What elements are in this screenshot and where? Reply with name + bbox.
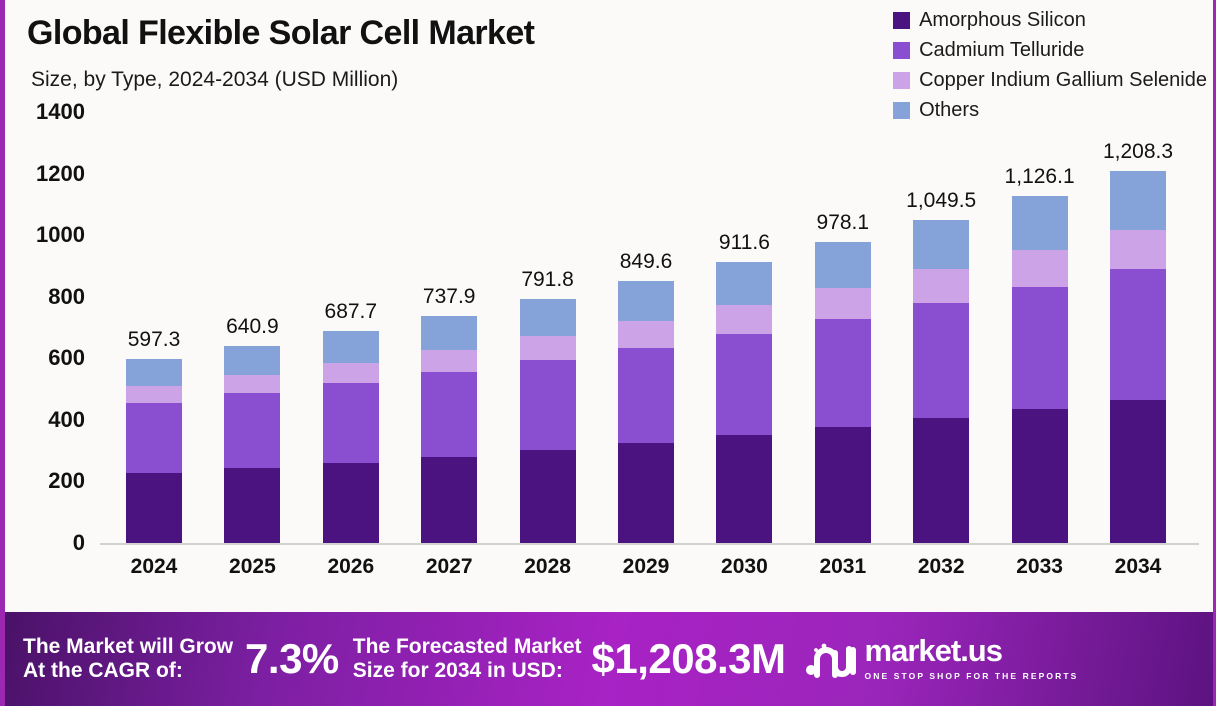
legend-label: Amorphous Silicon bbox=[919, 9, 1086, 32]
page-title: Global Flexible Solar Cell Market bbox=[27, 14, 534, 53]
x-axis-tick-label: 2026 bbox=[323, 555, 379, 579]
bar-segment[interactable] bbox=[224, 346, 280, 375]
bar-segment[interactable] bbox=[323, 363, 379, 383]
bar-column[interactable]: 978.1 bbox=[815, 242, 871, 543]
bar-value-label: 911.6 bbox=[719, 231, 770, 255]
y-axis-tick-label: 600 bbox=[48, 345, 85, 371]
bar-segment[interactable] bbox=[716, 435, 772, 543]
cagr-label: The Market will Grow At the CAGR of: bbox=[23, 635, 233, 684]
y-axis-tick-label: 200 bbox=[48, 468, 85, 494]
bar-segment[interactable] bbox=[520, 360, 576, 450]
chart-area: 0200400600800100012001400 597.3640.9687.… bbox=[5, 112, 1213, 612]
bar-segment[interactable] bbox=[1110, 400, 1166, 543]
bar-column[interactable]: 737.9 bbox=[421, 316, 477, 543]
bar-segment[interactable] bbox=[913, 269, 969, 303]
bar-column[interactable]: 791.8 bbox=[520, 299, 576, 543]
market-us-logo[interactable]: market.us ONE STOP SHOP FOR THE REPORTS bbox=[804, 635, 1213, 684]
bar-segment[interactable] bbox=[421, 457, 477, 544]
bar-segment[interactable] bbox=[421, 316, 477, 350]
bar-column[interactable]: 1,126.1 bbox=[1012, 196, 1068, 543]
y-axis-tick-label: 400 bbox=[48, 407, 85, 433]
bar-segment[interactable] bbox=[815, 427, 871, 543]
y-axis-tick-label: 1200 bbox=[36, 161, 85, 187]
x-axis: 2024202520262027202820292030203120322033… bbox=[100, 555, 1199, 595]
bar-value-label: 737.9 bbox=[423, 285, 476, 309]
logo-tagline: ONE STOP SHOP FOR THE REPORTS bbox=[865, 671, 1079, 681]
bar-segment[interactable] bbox=[126, 403, 182, 473]
bar-segment[interactable] bbox=[716, 334, 772, 436]
x-axis-tick-label: 2025 bbox=[224, 555, 280, 579]
x-axis-tick-label: 2031 bbox=[815, 555, 871, 579]
bar-value-label: 1,049.5 bbox=[906, 189, 976, 213]
bar-plot: 597.3640.9687.7737.9791.8849.6911.6978.1… bbox=[100, 112, 1199, 543]
y-axis-tick-label: 0 bbox=[73, 530, 85, 556]
legend-swatch-icon bbox=[893, 72, 910, 89]
logo-name: market.us bbox=[865, 633, 1002, 668]
bar-segment[interactable] bbox=[126, 386, 182, 403]
bar-column[interactable]: 687.7 bbox=[323, 331, 379, 543]
bar-segment[interactable] bbox=[1012, 250, 1068, 286]
bar-segment[interactable] bbox=[224, 375, 280, 394]
x-axis-tick-label: 2033 bbox=[1012, 555, 1068, 579]
bar-segment[interactable] bbox=[323, 331, 379, 363]
bar-segment[interactable] bbox=[913, 303, 969, 418]
bar-segment[interactable] bbox=[1110, 230, 1166, 269]
forecast-label-line1: The Forecasted Market bbox=[353, 635, 582, 659]
bar-segment[interactable] bbox=[815, 319, 871, 427]
legend-label: Cadmium Telluride bbox=[919, 39, 1084, 62]
legend-swatch-icon bbox=[893, 12, 910, 29]
x-axis-tick-label: 2027 bbox=[421, 555, 477, 579]
forecast-block: The Forecasted Market Size for 2034 in U… bbox=[339, 635, 786, 684]
bar-value-label: 1,208.3 bbox=[1103, 140, 1173, 164]
bar-value-label: 978.1 bbox=[817, 211, 870, 235]
bar-value-label: 640.9 bbox=[226, 315, 279, 339]
x-axis-tick-label: 2024 bbox=[126, 555, 182, 579]
legend-item[interactable]: Amorphous Silicon bbox=[893, 6, 1207, 34]
bar-segment[interactable] bbox=[1012, 409, 1068, 543]
forecast-value: $1,208.3M bbox=[592, 635, 786, 683]
bar-segment[interactable] bbox=[1012, 287, 1068, 410]
bar-segment[interactable] bbox=[815, 242, 871, 288]
bar-value-label: 849.6 bbox=[620, 250, 673, 274]
bar-column[interactable]: 597.3 bbox=[126, 359, 182, 543]
bar-segment[interactable] bbox=[716, 262, 772, 305]
bar-column[interactable]: 911.6 bbox=[716, 262, 772, 543]
bar-segment[interactable] bbox=[913, 220, 969, 270]
infographic-root: Global Flexible Solar Cell Market Size, … bbox=[0, 0, 1216, 706]
bar-segment[interactable] bbox=[224, 468, 280, 543]
bar-segment[interactable] bbox=[1110, 171, 1166, 229]
bar-segment[interactable] bbox=[323, 383, 379, 462]
market-us-wordmark: market.us ONE STOP SHOP FOR THE REPORTS bbox=[865, 635, 1213, 684]
legend-item[interactable]: Copper Indium Gallium Selenide bbox=[893, 66, 1207, 94]
market-us-mark-icon bbox=[804, 639, 856, 679]
bar-segment[interactable] bbox=[323, 463, 379, 543]
x-axis-tick-label: 2028 bbox=[520, 555, 576, 579]
bar-value-label: 1,126.1 bbox=[1005, 165, 1075, 189]
y-axis-tick-label: 1000 bbox=[36, 222, 85, 248]
y-axis: 0200400600800100012001400 bbox=[5, 112, 85, 543]
bar-column[interactable]: 1,208.3 bbox=[1110, 171, 1166, 543]
bar-segment[interactable] bbox=[520, 450, 576, 543]
bar-segment[interactable] bbox=[1110, 269, 1166, 400]
bar-segment[interactable] bbox=[224, 393, 280, 468]
bar-value-label: 791.8 bbox=[521, 268, 574, 292]
x-axis-line bbox=[100, 543, 1199, 545]
bar-column[interactable]: 1,049.5 bbox=[913, 220, 969, 543]
forecast-label: The Forecasted Market Size for 2034 in U… bbox=[353, 635, 582, 684]
bar-column[interactable]: 849.6 bbox=[618, 281, 674, 543]
bar-segment[interactable] bbox=[618, 321, 674, 347]
cagr-value: 7.3% bbox=[245, 635, 339, 683]
bar-segment[interactable] bbox=[126, 359, 182, 385]
x-axis-tick-label: 2029 bbox=[618, 555, 674, 579]
x-axis-tick-label: 2032 bbox=[913, 555, 969, 579]
bar-segment[interactable] bbox=[618, 443, 674, 543]
x-axis-tick-label: 2034 bbox=[1110, 555, 1166, 579]
y-axis-tick-label: 800 bbox=[48, 284, 85, 310]
bar-segment[interactable] bbox=[421, 372, 477, 456]
page-subtitle: Size, by Type, 2024-2034 (USD Million) bbox=[31, 68, 398, 92]
bar-column[interactable]: 640.9 bbox=[224, 346, 280, 543]
chart-header: Global Flexible Solar Cell Market Size, … bbox=[5, 0, 1213, 112]
bar-segment[interactable] bbox=[1012, 196, 1068, 250]
cagr-block: The Market will Grow At the CAGR of: 7.3… bbox=[5, 635, 339, 684]
x-axis-tick-label: 2030 bbox=[716, 555, 772, 579]
chart-legend: Amorphous SiliconCadmium TellurideCopper… bbox=[893, 6, 1207, 124]
forecast-label-line2: Size for 2034 in USD: bbox=[353, 659, 582, 683]
bar-segment[interactable] bbox=[520, 336, 576, 360]
bar-segment[interactable] bbox=[126, 473, 182, 543]
legend-swatch-icon bbox=[893, 42, 910, 59]
footer-banner: The Market will Grow At the CAGR of: 7.3… bbox=[5, 612, 1213, 706]
y-axis-tick-label: 1400 bbox=[36, 99, 85, 125]
bar-segment[interactable] bbox=[520, 299, 576, 336]
bar-segment[interactable] bbox=[913, 418, 969, 543]
bar-segment[interactable] bbox=[716, 305, 772, 333]
bar-segment[interactable] bbox=[421, 350, 477, 372]
bar-value-label: 597.3 bbox=[128, 328, 181, 352]
bar-value-label: 687.7 bbox=[325, 300, 378, 324]
bar-segment[interactable] bbox=[815, 288, 871, 319]
bar-segment[interactable] bbox=[618, 281, 674, 321]
cagr-label-line1: The Market will Grow bbox=[23, 635, 233, 659]
legend-item[interactable]: Cadmium Telluride bbox=[893, 36, 1207, 64]
cagr-label-line2: At the CAGR of: bbox=[23, 659, 233, 683]
bar-segment[interactable] bbox=[618, 348, 674, 443]
legend-label: Copper Indium Gallium Selenide bbox=[919, 69, 1207, 92]
